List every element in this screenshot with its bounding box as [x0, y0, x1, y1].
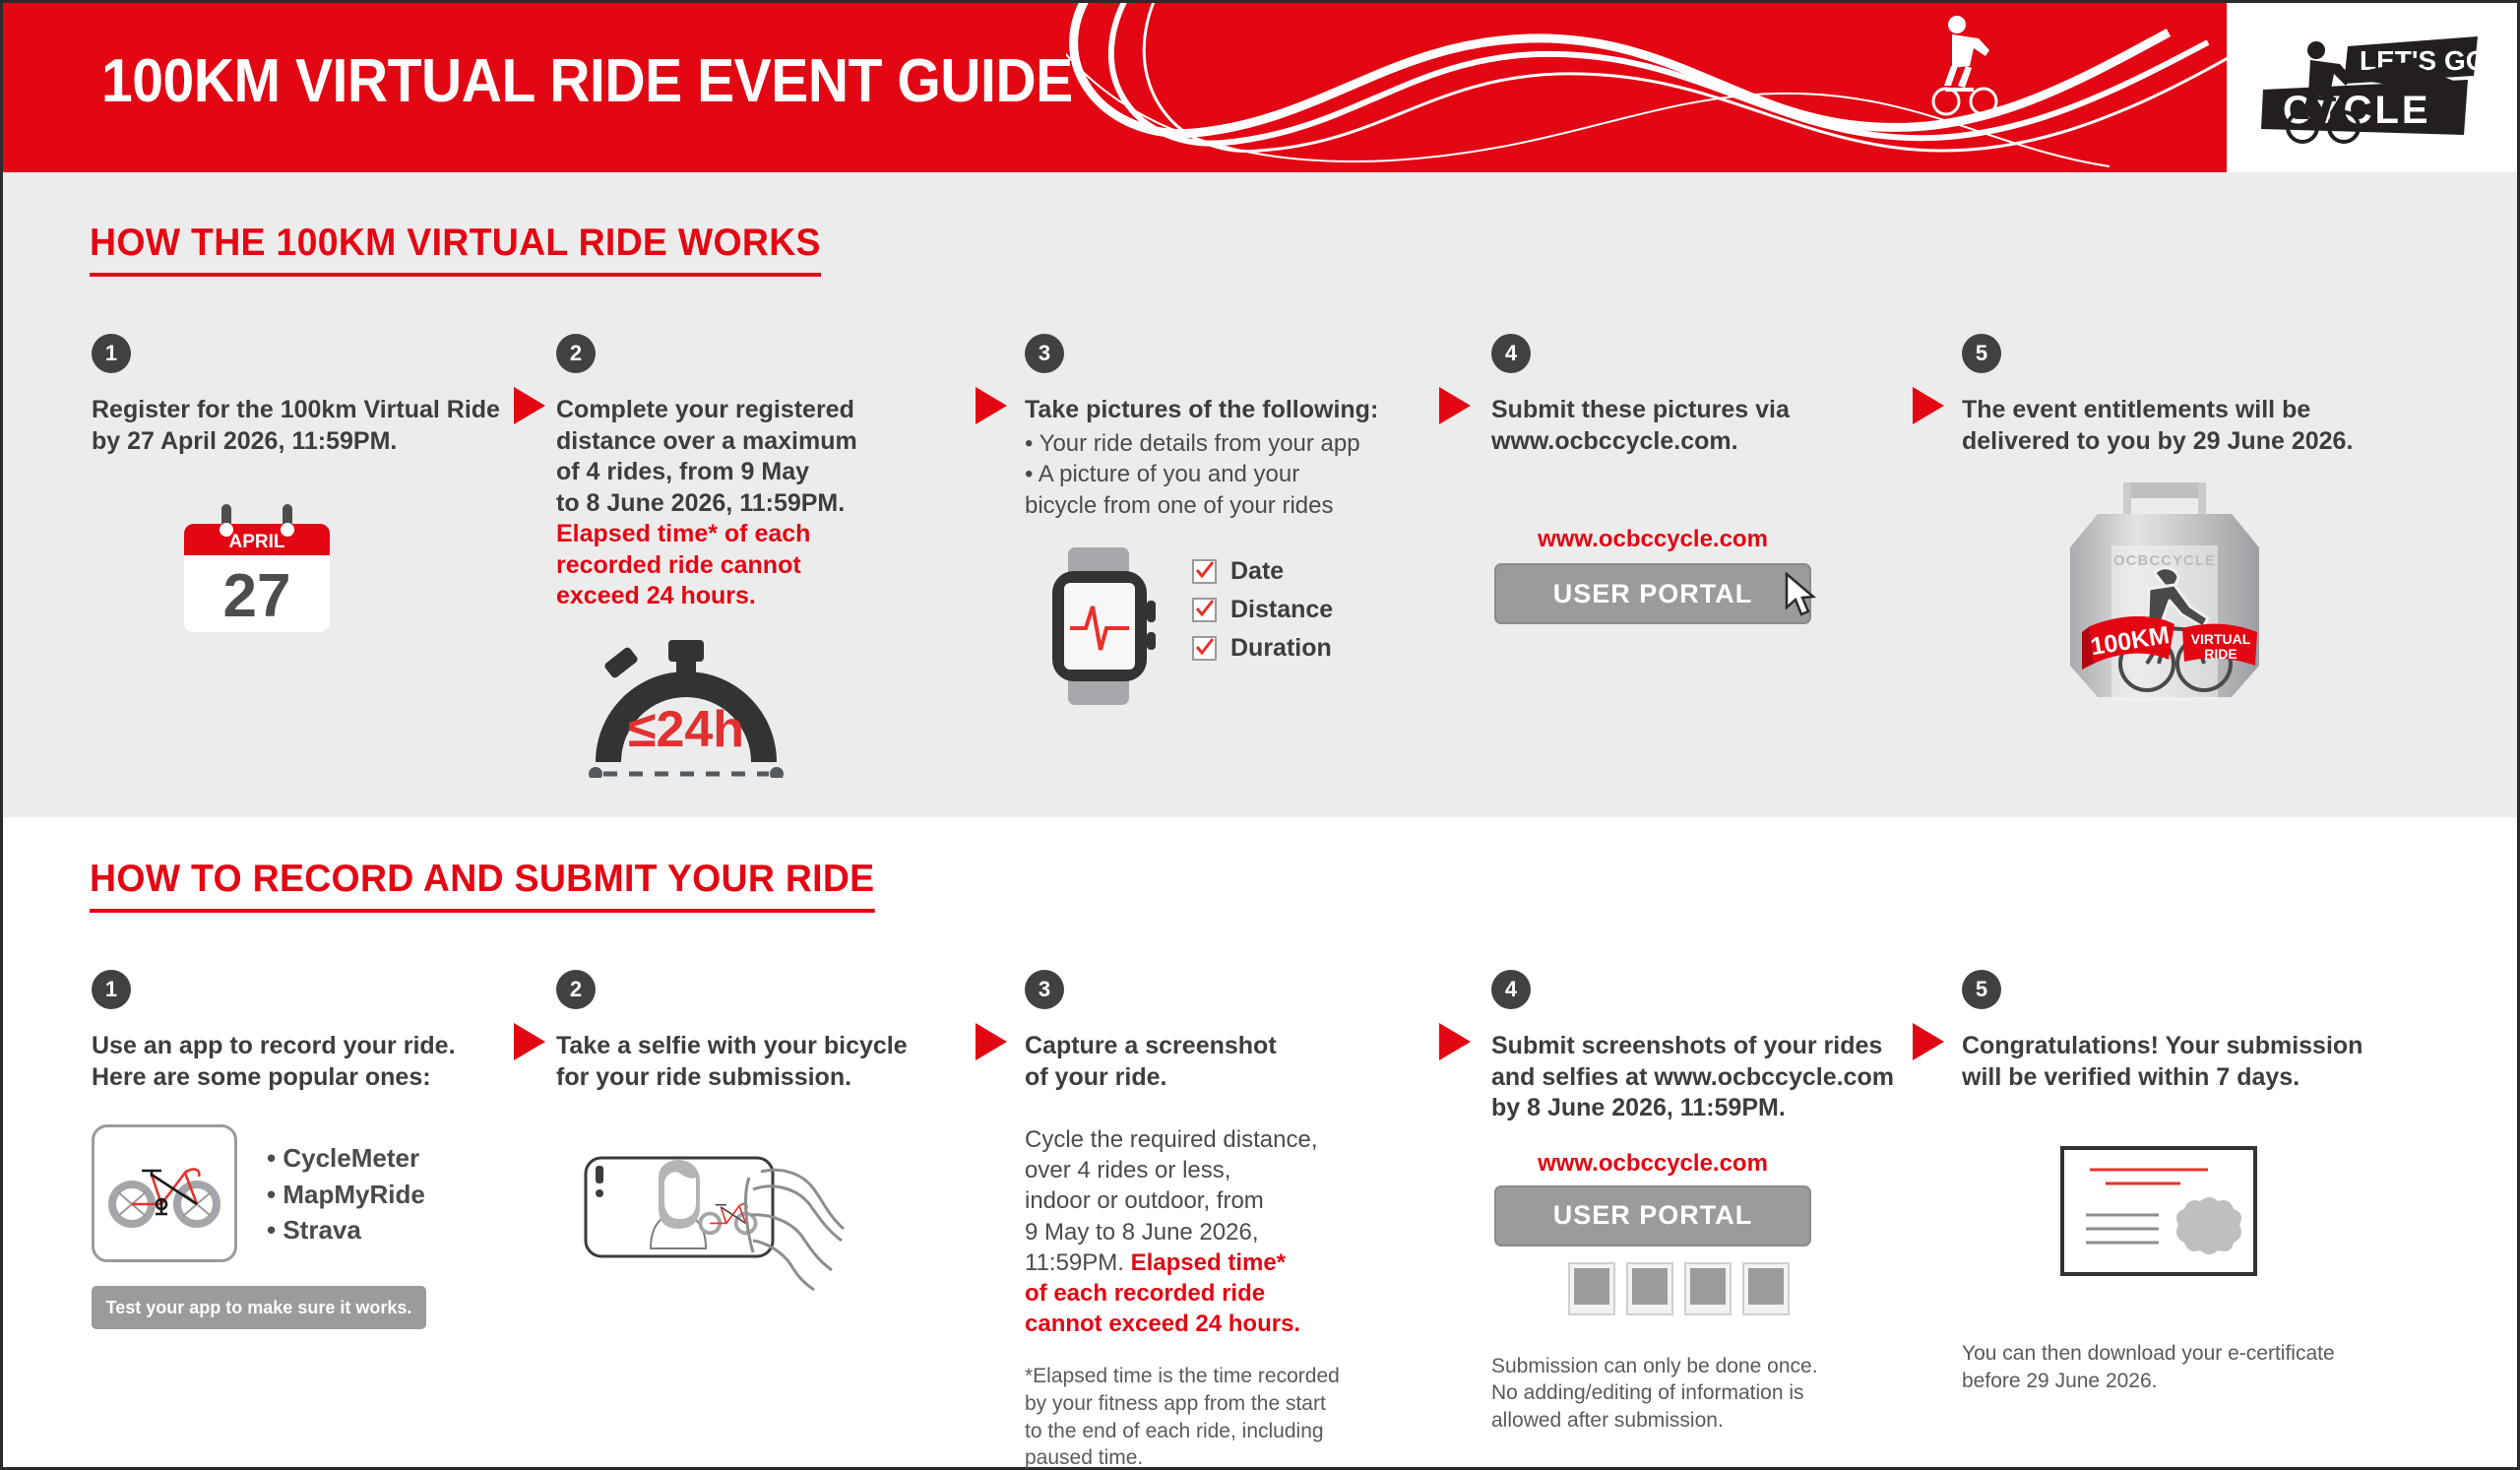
user-portal-button[interactable]: USER PORTAL — [1494, 563, 1811, 624]
step-title: Capture a screenshot of your ride. — [1025, 1031, 1418, 1093]
stopwatch-label: ≤24h — [628, 701, 744, 758]
submission-footnote: Submission can only be done once. No add… — [1491, 1353, 1905, 1435]
checkbox-checked-icon[interactable] — [1192, 598, 1217, 622]
certificate-icon — [2060, 1146, 2395, 1281]
step-title: Take pictures of the following: — [1025, 395, 1438, 426]
user-portal-button[interactable]: USER PORTAL — [1494, 1185, 1811, 1246]
step-s2-5: 5 Congratulations! Your submission will … — [1962, 970, 2395, 1394]
checklist-item[interactable]: Duration — [1192, 634, 1333, 663]
photo-checklist: Date Distance Dura — [1192, 557, 1333, 672]
step-number-badge: 4 — [1491, 334, 1531, 373]
selfie-phone-icon — [556, 1138, 950, 1320]
step-title: Take a selfie with your bicycle for your… — [556, 1031, 950, 1093]
step-title: Use an app to record your ride. Here are… — [92, 1031, 505, 1093]
arrow-icon — [1439, 1023, 1471, 1060]
step-number-badge: 2 — [556, 334, 596, 373]
arrow-icon — [976, 387, 1007, 424]
header-wave-graphic — [1066, 3, 2228, 172]
arrow-icon — [1439, 387, 1471, 424]
step-s1-3: 3 Take pictures of the following: • Your… — [1025, 334, 1438, 705]
calendar-day: 27 — [223, 562, 291, 630]
elapsed-time-footnote: *Elapsed time is the time recorded by yo… — [1025, 1363, 1418, 1470]
section-1-heading: HOW THE 100KM VIRTUAL RIDE WORKS — [90, 222, 821, 277]
screenshot-thumbnails — [1568, 1262, 1905, 1315]
arrow-icon — [1913, 387, 1944, 424]
arrow-icon — [976, 1023, 1007, 1060]
page-header: 100KM VIRTUAL RIDE EVENT GUIDE LET'S GO … — [3, 3, 2517, 172]
checklist-label: Duration — [1230, 634, 1332, 663]
step-s1-4: 4 Submit these pictures via www.ocbccycl… — [1491, 334, 1885, 624]
step-number-badge: 4 — [1491, 970, 1531, 1009]
step-title: The event entitlements will be delivered… — [1962, 395, 2395, 457]
step-number-badge: 3 — [1025, 334, 1064, 373]
thumbnail-item[interactable] — [1742, 1262, 1790, 1315]
step-number-badge: 1 — [92, 334, 131, 373]
checklist-item[interactable]: Date — [1192, 557, 1333, 586]
step-title: Submit screenshots of your rides and sel… — [1491, 1031, 1905, 1124]
cyclist-silhouette-icon — [1944, 16, 1989, 92]
step-s1-2: 2 Complete your registered distance over… — [556, 334, 881, 783]
step-number-badge: 5 — [1962, 970, 2001, 1009]
stopwatch-icon: ≤24h — [578, 640, 881, 783]
test-app-note-button[interactable]: Test your app to make sure it works. — [92, 1286, 426, 1329]
app-list: • CycleMeter • MapMyRide • Strava — [267, 1140, 425, 1249]
brand-logo: LET'S GO CYCLE — [2227, 3, 2517, 172]
step-title: Complete your registered distance over a… — [556, 395, 881, 612]
step-number-badge: 3 — [1025, 970, 1064, 1009]
arrow-icon — [514, 387, 545, 424]
arrow-icon — [514, 1023, 545, 1060]
page-title: 100KM VIRTUAL RIDE EVENT GUIDE — [101, 46, 1073, 116]
elapsed-time-emphasis: Elapsed time* — [1131, 1249, 1286, 1276]
step-number-badge: 2 — [556, 970, 596, 1009]
step-s1-1: 1 Register for the 100km Virtual Ride by… — [92, 334, 505, 647]
section-2-heading: HOW TO RECORD AND SUBMIT YOUR RIDE — [90, 858, 874, 913]
lets-go-cycle-logo-icon: LET'S GO CYCLE — [2249, 29, 2495, 147]
thumbnail-item[interactable] — [1568, 1262, 1615, 1315]
medal-banner-right-line2: RIDE — [2204, 646, 2236, 662]
portal-url[interactable]: www.ocbccycle.com — [1494, 526, 1811, 553]
mouse-cursor-icon — [1784, 572, 1819, 619]
step-number-badge: 5 — [1962, 334, 2001, 373]
step-s2-2: 2 Take a selfie with your bicycle for yo… — [556, 970, 950, 1320]
picture-requirements-list: • Your ride details from your app • A pi… — [1025, 428, 1438, 523]
thumbnail-item[interactable] — [1626, 1262, 1673, 1315]
step-title: Congratulations! Your submission will be… — [1962, 1031, 2395, 1093]
step-number-badge: 1 — [92, 970, 131, 1009]
portal-url[interactable]: www.ocbccycle.com — [1494, 1150, 1811, 1178]
smartwatch-icon — [1044, 547, 1163, 705]
checklist-label: Distance — [1230, 596, 1333, 624]
step-title: Submit these pictures via www.ocbccycle.… — [1491, 395, 1885, 457]
thumbnail-item[interactable] — [1684, 1262, 1732, 1315]
step-s2-4: 4 Submit screenshots of your rides and s… — [1491, 970, 1905, 1435]
step-s2-3: 3 Capture a screenshot of your ride. Cyc… — [1025, 970, 1418, 1470]
ride-instructions: Cycle the required distance, over 4 ride… — [1025, 1124, 1418, 1339]
bicycle-app-icon — [92, 1124, 237, 1262]
checklist-item[interactable]: Distance — [1192, 596, 1333, 624]
arrow-icon — [1913, 1023, 1944, 1060]
checkbox-checked-icon[interactable] — [1192, 559, 1217, 584]
checkbox-checked-icon[interactable] — [1192, 636, 1217, 661]
infographic-page: 100KM VIRTUAL RIDE EVENT GUIDE LET'S GO … — [0, 0, 2520, 1470]
checklist-label: Date — [1230, 557, 1284, 586]
step-s1-5: 5 The event entitlements will be deliver… — [1962, 334, 2395, 706]
medal-banner-right-line1: VIRTUAL — [2191, 631, 2251, 647]
step-title: Register for the 100km Virtual Ride by 2… — [92, 395, 505, 457]
medal-icon: OCBCCYCLE 100KM VIRTUAL RIDE — [2039, 479, 2395, 706]
calendar-month: APRIL — [229, 532, 285, 552]
ecertificate-footnote: You can then download your e-certificate… — [1962, 1340, 2395, 1394]
calendar-icon: APRIL 27 — [180, 504, 505, 647]
step-s2-1: 1 Use an app to record your ride. Here a… — [92, 970, 505, 1329]
time-prefix: 11:59PM. — [1025, 1249, 1131, 1276]
